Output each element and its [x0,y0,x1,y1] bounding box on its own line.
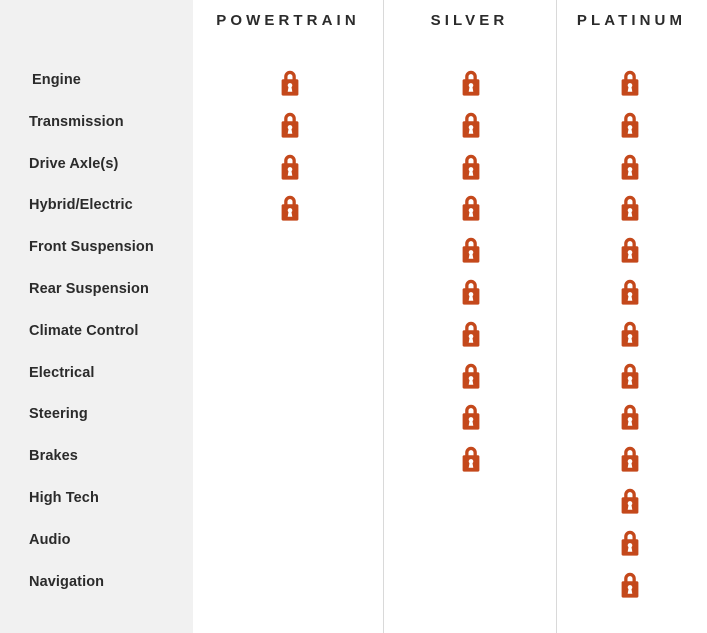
lock-icon [615,317,645,349]
cell-silver-brakes [456,442,486,474]
table-row: Front Suspension [0,229,707,271]
row-label-hybrid-electric: Hybrid/Electric [29,197,133,213]
row-label-engine: Engine [32,72,81,88]
lock-icon [615,484,645,516]
lock-icon [615,275,645,307]
row-label-high-tech: High Tech [29,490,99,506]
cell-platinum-electrical [615,359,645,391]
cell-silver-rear-suspension [456,275,486,307]
table-row: Drive Axle(s) [0,146,707,188]
table-row: Rear Suspension [0,271,707,313]
cell-platinum-hybrid-electric [615,191,645,223]
cell-silver-steering [456,400,486,432]
lock-icon [275,66,305,98]
lock-icon [615,359,645,391]
cell-silver-engine [456,66,486,98]
table-row: Brakes [0,438,707,480]
cell-silver-hybrid-electric [456,191,486,223]
row-label-climate-control: Climate Control [29,323,138,339]
table-row: Transmission [0,104,707,146]
cell-platinum-navigation [615,568,645,600]
table-body: Engine [0,62,707,605]
cell-silver-front-suspension [456,233,486,265]
cell-silver-electrical [456,359,486,391]
lock-icon [275,150,305,182]
cell-platinum-steering [615,400,645,432]
cell-powertrain-hybrid-electric [275,191,305,223]
cell-silver-drive-axles [456,150,486,182]
table-row: Climate Control [0,313,707,355]
table-header-row: POWERTRAIN SILVER PLATINUM [0,0,707,45]
cell-platinum-audio [615,526,645,558]
cell-platinum-climate-control [615,317,645,349]
lock-icon [615,150,645,182]
lock-icon [615,66,645,98]
table-row: Engine [0,62,707,104]
table-row: Audio [0,522,707,564]
table-row: Steering [0,396,707,438]
lock-icon [456,108,486,140]
lock-icon [456,191,486,223]
table-row: High Tech [0,480,707,522]
column-header-platinum: PLATINUM [556,12,707,29]
cell-platinum-high-tech [615,484,645,516]
lock-icon [615,400,645,432]
cell-platinum-rear-suspension [615,275,645,307]
cell-platinum-brakes [615,442,645,474]
table-row: Navigation [0,564,707,606]
lock-icon [456,66,486,98]
lock-icon [456,317,486,349]
row-label-transmission: Transmission [29,114,124,130]
lock-icon [615,108,645,140]
lock-icon [275,108,305,140]
cell-silver-transmission [456,108,486,140]
lock-icon [456,359,486,391]
table-row: Hybrid/Electric [0,187,707,229]
cell-platinum-engine [615,66,645,98]
column-header-silver: SILVER [383,12,556,29]
lock-icon [456,442,486,474]
cell-silver-climate-control [456,317,486,349]
lock-icon [456,150,486,182]
lock-icon [456,275,486,307]
coverage-comparison-table: POWERTRAIN SILVER PLATINUM Engine [0,0,707,633]
column-header-powertrain: POWERTRAIN [193,12,383,29]
cell-powertrain-drive-axles [275,150,305,182]
lock-icon [615,568,645,600]
lock-icon [615,191,645,223]
cell-powertrain-engine [275,66,305,98]
lock-icon [615,233,645,265]
cell-platinum-transmission [615,108,645,140]
row-label-front-suspension: Front Suspension [29,239,154,255]
row-label-brakes: Brakes [29,448,78,464]
row-label-steering: Steering [29,406,88,422]
cell-platinum-front-suspension [615,233,645,265]
row-label-navigation: Navigation [29,574,104,590]
table-row: Electrical [0,355,707,397]
lock-icon [615,526,645,558]
cell-powertrain-transmission [275,108,305,140]
row-label-rear-suspension: Rear Suspension [29,281,149,297]
lock-icon [275,191,305,223]
cell-platinum-drive-axles [615,150,645,182]
lock-icon [456,233,486,265]
row-label-audio: Audio [29,532,71,548]
lock-icon [615,442,645,474]
row-label-electrical: Electrical [29,365,95,381]
row-label-drive-axles: Drive Axle(s) [29,156,118,172]
lock-icon [456,400,486,432]
